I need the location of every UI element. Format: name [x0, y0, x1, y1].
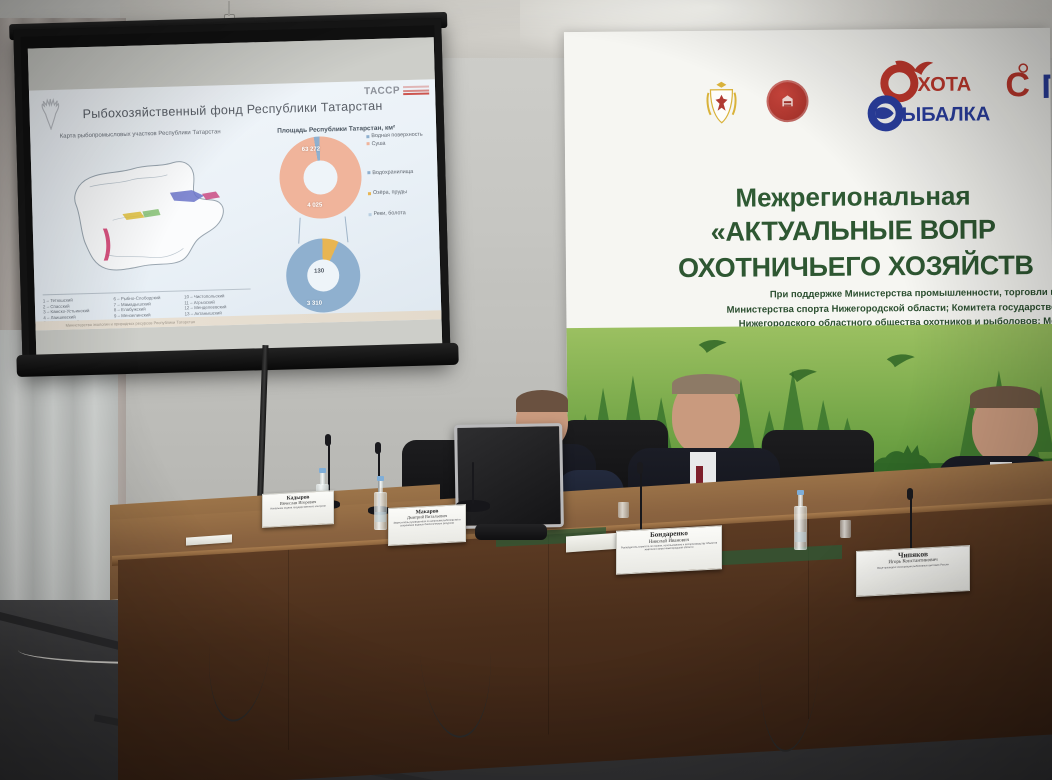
- legend-entry-label: Водная поверхность: [371, 132, 422, 140]
- svg-text:ХОТА: ХОТА: [917, 74, 971, 96]
- donut-label-lakes: 130: [314, 268, 324, 274]
- banner-heading-3: ОХОТНИЧЬЕГО ХОЗЯЙСТВ: [678, 250, 1034, 284]
- nameplate-kadyrov: Кадыров Вячеслав Игоревич Начальник отде…: [262, 490, 334, 528]
- tassr-logo: ТАССР: [364, 84, 429, 97]
- area-donut-charts: 63 272 4 025 130 3 310 Водная поверхност…: [244, 131, 433, 320]
- hair: [516, 390, 568, 412]
- presentation-slide: ТАССР Рыбохозяйственный фонд Республики …: [29, 79, 442, 330]
- nameplate-makarov: Макаров Дмитрий Витальевич Заместитель р…: [388, 504, 466, 546]
- donut-label-reservoirs: 3 310: [307, 301, 322, 307]
- screen-surface: ТАССР Рыбохозяйственный фонд Республики …: [28, 37, 443, 362]
- drinking-glass: [840, 520, 851, 538]
- tatarstan-map-svg: [42, 139, 246, 295]
- chart-legend: Водная поверхность Суша Водохранилища Оз…: [366, 131, 432, 219]
- legend-entry: Реки, болота: [368, 209, 432, 218]
- fair-building-icon: [776, 90, 798, 112]
- donut-label-water: 4 025: [307, 202, 322, 208]
- banner-logo-row: [704, 78, 808, 125]
- nameplate-chipyakov: Чипяков Игорь Константинович Вице-презид…: [856, 545, 970, 597]
- donut-label-land: 63 272: [302, 147, 321, 154]
- svg-text:ЫБАЛКА: ЫБАЛКА: [902, 103, 991, 126]
- projection-screen: ТАССР Рыбохозяйственный фонд Республики …: [13, 18, 450, 375]
- tassr-logo-text: ТАССР: [364, 85, 400, 97]
- wood-grain: [288, 550, 289, 750]
- banner-heading-1: Межрегиональная: [735, 181, 971, 214]
- banner-heading-2: «АКТУАЛЬНЫЕ ВОПР: [711, 214, 996, 247]
- legend-entry-label: Озёра, пруды: [373, 189, 407, 197]
- water-bottle: [374, 492, 387, 530]
- wood-grain: [548, 534, 549, 734]
- microphone-arm: [472, 462, 474, 504]
- conference-room-photo: ТАССР Рыбохозяйственный фонд Республики …: [0, 0, 1052, 780]
- svg-text:С: С: [1005, 66, 1030, 104]
- nameplate-bondarenko: Бондаренко Николай Иванович Руководитель…: [616, 525, 722, 575]
- legend-entry-label: Водохранилища: [372, 168, 413, 176]
- legend-entry: Водохранилища: [367, 168, 431, 177]
- legend-entry-label: Суша: [372, 140, 386, 147]
- drinking-glass: [618, 502, 629, 518]
- water-bottle: [794, 506, 807, 550]
- tatarstan-map: [42, 139, 246, 295]
- computer-monitor[interactable]: [454, 423, 564, 529]
- microphone-head-icon: [907, 488, 913, 500]
- monitor-stand: [475, 524, 547, 540]
- microphone-head-icon: [325, 434, 331, 446]
- microphone-head-icon: [375, 442, 381, 454]
- slide-title: Рыбохозяйственный фонд Республики Татарс…: [29, 97, 435, 122]
- microphone-head-icon: [637, 462, 643, 474]
- tassr-logo-bars: [403, 85, 429, 95]
- screen-frame: ТАССР Рыбохозяйственный фонд Республики …: [13, 18, 450, 375]
- ohota-rybalka-logo: ХОТА ЫБАЛКА С П: [859, 56, 1052, 136]
- microphone-arm: [640, 470, 642, 534]
- legend-entry-label: Реки, болота: [373, 210, 405, 218]
- legend-entry: Суша: [367, 139, 431, 148]
- hair: [672, 374, 740, 394]
- hair: [970, 386, 1040, 408]
- nizhny-novgorod-coat-of-arms-icon: [704, 79, 738, 125]
- nizhegorodskaya-yarmarka-logo: [766, 80, 808, 122]
- donut-chart-water-breakdown: [285, 237, 361, 313]
- legend-entry: Озёра, пруды: [368, 189, 432, 198]
